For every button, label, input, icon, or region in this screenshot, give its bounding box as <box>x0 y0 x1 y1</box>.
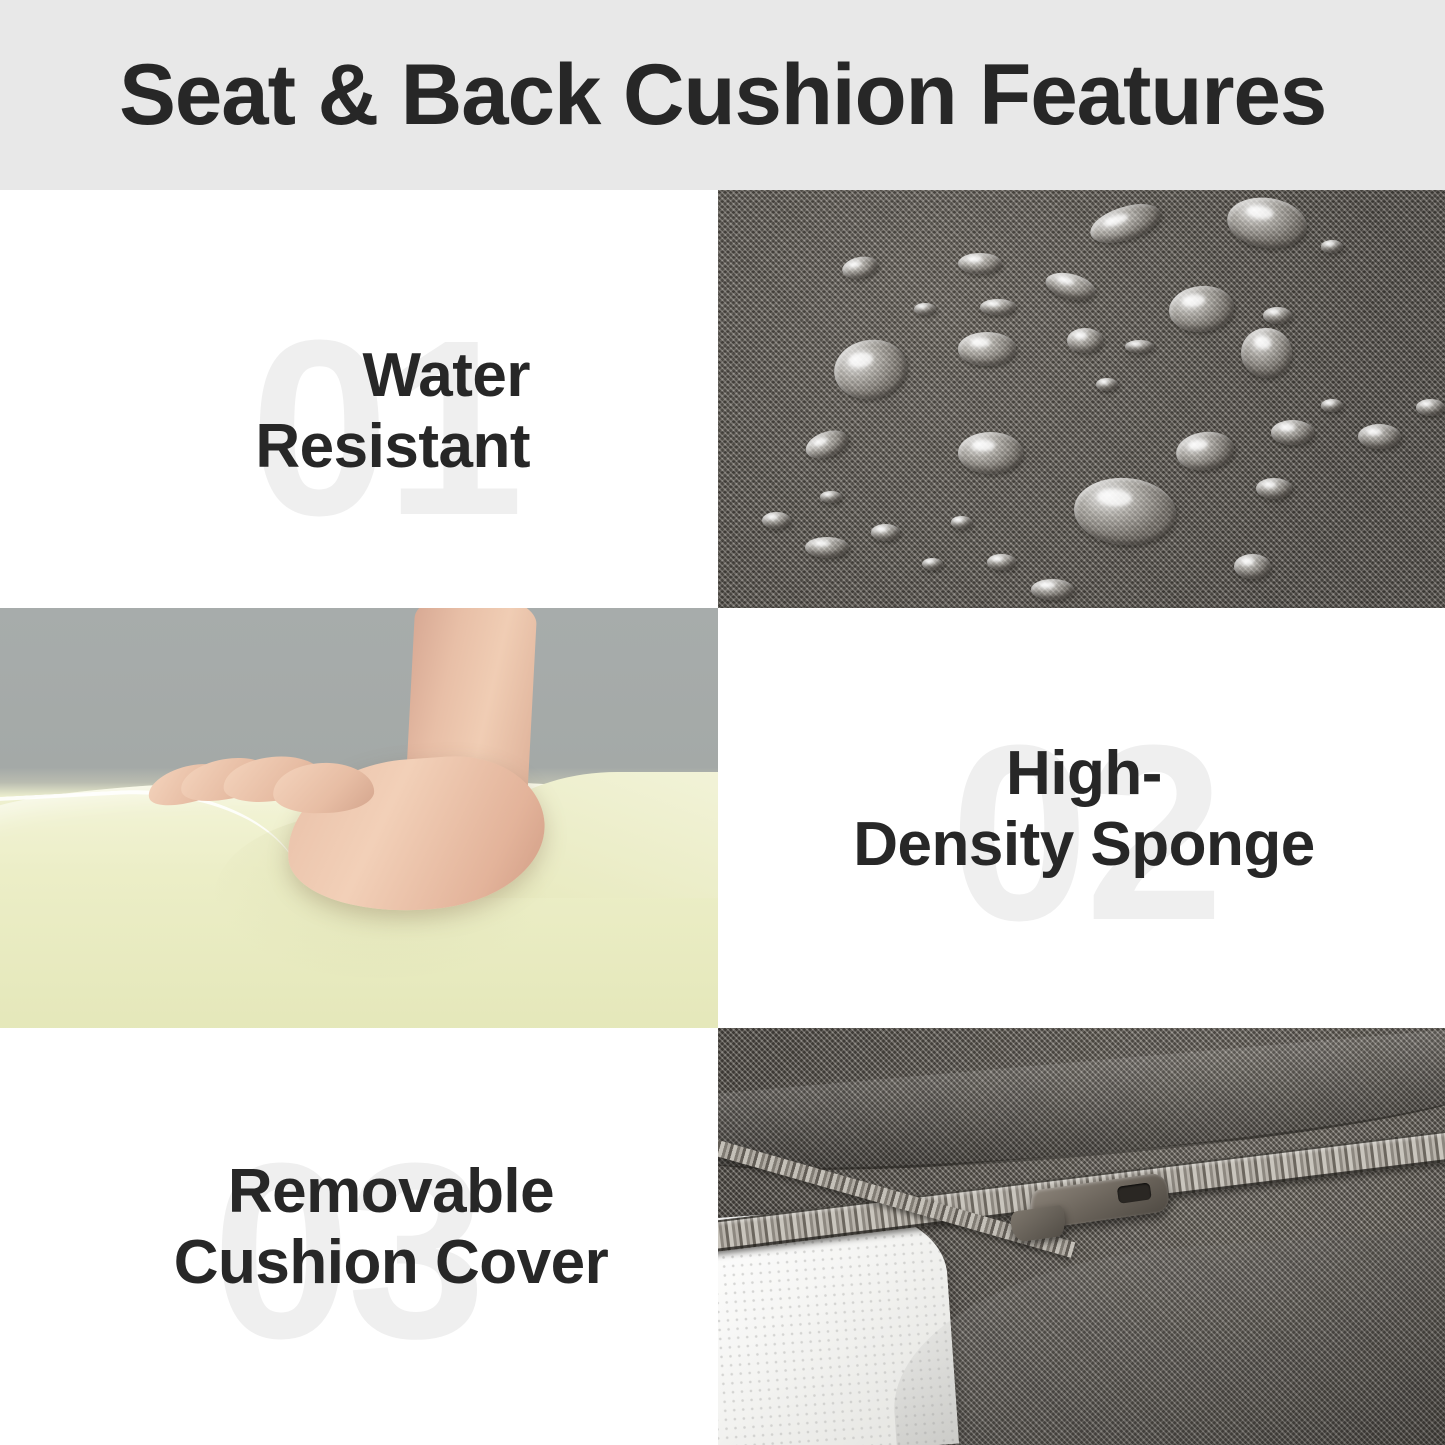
feature-03-title: Removable Cushion Cover <box>118 1156 664 1299</box>
feature-01-panel: 01 Water Resistant <box>0 190 718 608</box>
feature-01-title: Water Resistant <box>255 340 530 483</box>
feature-02-title-line1: High- <box>814 738 1354 809</box>
feature-02-text-cell: 02 High- Density Sponge <box>718 608 1445 1028</box>
feature-02-image-cell <box>0 608 718 1028</box>
feature-grid: 01 Water Resistant <box>0 190 1445 1445</box>
feature-01-image-cell <box>718 190 1445 608</box>
zipper-pull-hole <box>1117 1183 1152 1204</box>
page-title: Seat & Back Cushion Features <box>119 52 1326 138</box>
water-resistant-fabric-photo <box>718 190 1445 608</box>
feature-03-title-line2: Cushion Cover <box>118 1227 664 1298</box>
feature-03-text-cell: 03 Removable Cushion Cover <box>0 1028 718 1445</box>
feature-01-title-line1: Water <box>255 340 530 411</box>
zipper-pull <box>1006 1167 1172 1243</box>
high-density-sponge-photo <box>0 608 718 1028</box>
feature-03-panel: 03 Removable Cushion Cover <box>0 1028 718 1445</box>
fabric-fold <box>885 1222 1445 1445</box>
feature-01-text-cell: 01 Water Resistant <box>0 190 718 608</box>
feature-03-title-line1: Removable <box>118 1156 664 1227</box>
header-band: Seat & Back Cushion Features <box>0 0 1445 190</box>
feature-02-title-line2: Density Sponge <box>814 809 1354 880</box>
feature-01-title-line2: Resistant <box>255 411 530 482</box>
cushion-features-infographic: Seat & Back Cushion Features 01 Water Re… <box>0 0 1445 1445</box>
feature-02-panel: 02 High- Density Sponge <box>718 608 1445 1028</box>
feature-03-image-cell <box>718 1028 1445 1445</box>
removable-cover-zipper-photo <box>718 1028 1445 1445</box>
feature-02-title: High- Density Sponge <box>814 738 1354 881</box>
